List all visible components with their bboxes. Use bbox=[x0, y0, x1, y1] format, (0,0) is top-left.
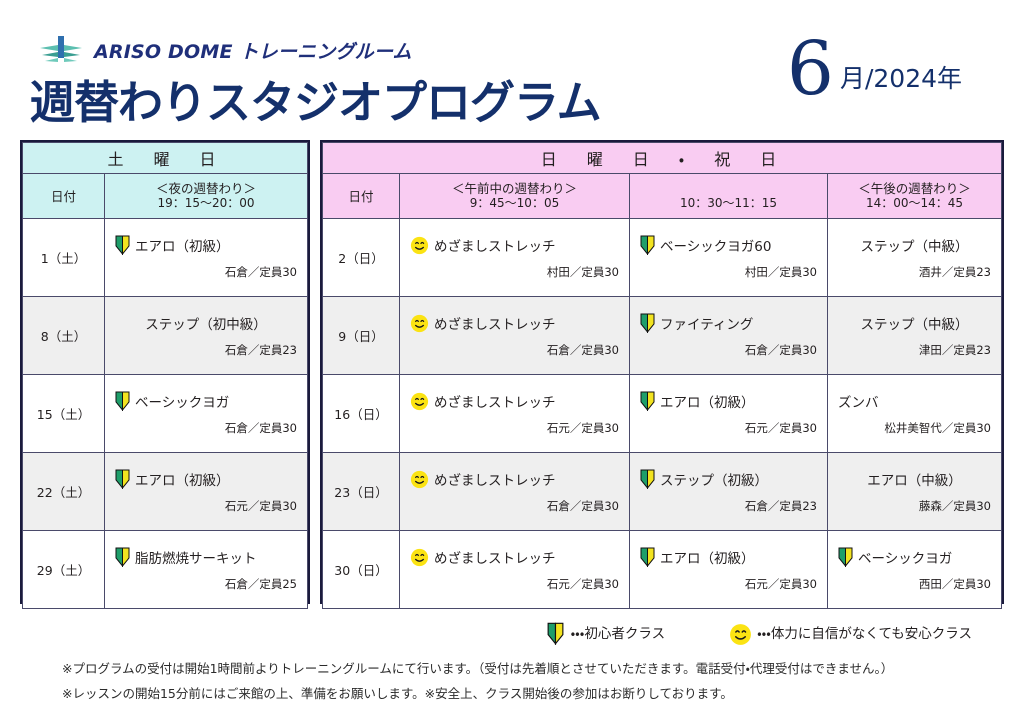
class-name: ステップ（初中級） bbox=[145, 313, 267, 333]
ariso-dome-logo-icon bbox=[38, 34, 84, 66]
class-title-line: ステップ（中級） bbox=[838, 235, 991, 255]
note-line-2: ※レッスンの開始15分前にはご来館の上、準備をお願いします。※安全上、クラス開始… bbox=[62, 681, 992, 706]
wakaba-beginner-icon bbox=[640, 547, 655, 567]
sunday-date-header: 日付 bbox=[323, 174, 400, 219]
class-name: エアロ（中級） bbox=[867, 469, 962, 489]
class-name: エアロ（初級） bbox=[660, 391, 755, 411]
class-instructor: 石倉／定員30 bbox=[115, 264, 297, 280]
wakaba-beginner-icon bbox=[547, 622, 562, 642]
legend-item-easy: ・・・体力に自信がなくても安心クラス bbox=[729, 622, 972, 642]
footer-notes: ※プログラムの受付は開始1時間前よりトレーニングルームにて行います。（受付は先着… bbox=[62, 656, 992, 706]
class-title-line: ベーシックヨガ bbox=[115, 391, 297, 411]
class-name: 脂肪燃焼サーキット bbox=[135, 547, 257, 567]
class-instructor: 石元／定員30 bbox=[410, 576, 619, 592]
class-name: めざましストレッチ bbox=[434, 235, 556, 255]
class-name: めざましストレッチ bbox=[434, 469, 556, 489]
saturday-class-2[interactable]: ベーシックヨガ 石倉／定員30 bbox=[105, 375, 308, 453]
sunday-class-2-slot2[interactable]: エアロ（初級） 石元／定員30 bbox=[630, 375, 828, 453]
sunday-date-2: 16（日） bbox=[323, 375, 400, 453]
morning-time-1: 9：45〜10：05 bbox=[400, 196, 629, 211]
class-instructor: 石倉／定員30 bbox=[115, 420, 297, 436]
sunday-class-3-slot1[interactable]: めざましストレッチ 石倉／定員30 bbox=[400, 453, 630, 531]
wakaba-beginner-icon bbox=[640, 469, 655, 489]
table-row: 1（土） エアロ（初級） 石倉／定員30 bbox=[23, 219, 308, 297]
month-year-label: 月/2024年 bbox=[834, 59, 962, 101]
sunday-date-3: 23（日） bbox=[323, 453, 400, 531]
afternoon-label: ＜午後の週替わり＞ bbox=[828, 181, 1001, 197]
month-number: 6 bbox=[787, 38, 834, 101]
class-instructor: 村田／定員30 bbox=[640, 264, 817, 280]
sunday-class-3-slot3[interactable]: エアロ（中級） 藤森／定員30 bbox=[828, 453, 1002, 531]
legend-item-beginner: ・・・初心者クラス bbox=[547, 622, 666, 642]
sunday-date-4: 30（日） bbox=[323, 531, 400, 609]
sunday-schedule-table: 日 曜 日 ・ 祝 日 日付 ＜午前中の週替わり＞ 9：45〜10：05 ＜午前… bbox=[320, 140, 1004, 604]
table-row: 9（日） めざましストレッチ 石倉／定員30 bbox=[323, 297, 1002, 375]
class-instructor: 石元／定員30 bbox=[410, 420, 619, 436]
sunday-class-1-slot2[interactable]: ファイティング 石倉／定員30 bbox=[630, 297, 828, 375]
class-instructor: 石倉／定員30 bbox=[410, 498, 619, 514]
morning-time-2: 10：30〜11：15 bbox=[630, 196, 827, 211]
saturday-class-1[interactable]: ステップ（初中級） 石倉／定員23 bbox=[105, 297, 308, 375]
smiley-easy-class-icon bbox=[410, 314, 429, 333]
sunday-class-4-slot3[interactable]: ベーシックヨガ 西田／定員30 bbox=[828, 531, 1002, 609]
saturday-day-title-row: 土 曜 日 bbox=[23, 143, 308, 174]
class-instructor: 藤森／定員30 bbox=[838, 498, 991, 514]
table-row: 23（日） めざましストレッチ 石倉／定員30 bbox=[323, 453, 1002, 531]
sunday-morning-slot2-header: ＜午前中の週替わり＞ 10：30〜11：15 bbox=[630, 174, 828, 219]
wakaba-beginner-icon bbox=[115, 547, 130, 567]
class-instructor: 石元／定員30 bbox=[115, 498, 297, 514]
sunday-class-0-slot1[interactable]: めざましストレッチ 村田／定員30 bbox=[400, 219, 630, 297]
class-title-line: エアロ（初級） bbox=[115, 469, 297, 489]
class-name: めざましストレッチ bbox=[434, 547, 556, 567]
wakaba-beginner-icon bbox=[838, 547, 853, 567]
saturday-class-3[interactable]: エアロ（初級） 石元／定員30 bbox=[105, 453, 308, 531]
saturday-slot-header: ＜夜の週替わり＞ 19：15〜20：00 bbox=[105, 174, 308, 219]
class-instructor: 酒井／定員23 bbox=[838, 264, 991, 280]
sunday-day-title-row: 日 曜 日 ・ 祝 日 bbox=[323, 143, 1002, 174]
table-row: 30（日） めざましストレッチ 石元／定員30 bbox=[323, 531, 1002, 609]
class-name: エアロ（初級） bbox=[135, 235, 230, 255]
class-instructor: 石元／定員30 bbox=[640, 420, 817, 436]
class-name: ベーシックヨガ bbox=[858, 547, 952, 567]
page-header: ARISO DOME トレーニングルーム 週替わりスタジオプログラム 6 月/2… bbox=[0, 0, 1024, 132]
saturday-class-0[interactable]: エアロ（初級） 石倉／定員30 bbox=[105, 219, 308, 297]
class-title-line: めざましストレッチ bbox=[410, 547, 619, 567]
class-title-line: エアロ（初級） bbox=[640, 391, 817, 411]
legend-label: ・・・体力に自信がなくても安心クラス bbox=[757, 622, 972, 642]
sunday-date-1: 9（日） bbox=[323, 297, 400, 375]
class-instructor: 石倉／定員23 bbox=[115, 342, 297, 358]
afternoon-time: 14：00〜14：45 bbox=[828, 196, 1001, 211]
sunday-header-row: 日付 ＜午前中の週替わり＞ 9：45〜10：05 ＜午前中の週替わり＞ 10：3… bbox=[323, 174, 1002, 219]
wakaba-beginner-icon bbox=[115, 391, 130, 411]
class-name: エアロ（初級） bbox=[660, 547, 755, 567]
sunday-class-2-slot3[interactable]: ズンバ 松井美智代／定員30 bbox=[828, 375, 1002, 453]
class-title-line: ステップ（初級） bbox=[640, 469, 817, 489]
class-instructor: 石元／定員30 bbox=[640, 576, 817, 592]
brand-lockup: ARISO DOME トレーニングルーム bbox=[38, 34, 412, 66]
class-name: めざましストレッチ bbox=[434, 391, 556, 411]
class-title-line: ズンバ bbox=[838, 391, 991, 411]
saturday-date-header: 日付 bbox=[23, 174, 105, 219]
class-title-line: めざましストレッチ bbox=[410, 235, 619, 255]
wakaba-beginner-icon bbox=[115, 235, 130, 255]
saturday-date-1: 8（土） bbox=[23, 297, 105, 375]
class-instructor: 石倉／定員30 bbox=[640, 342, 817, 358]
saturday-slot-label: ＜夜の週替わり＞ bbox=[105, 181, 307, 197]
saturday-class-4[interactable]: 脂肪燃焼サーキット 石倉／定員25 bbox=[105, 531, 308, 609]
class-name: ステップ（中級） bbox=[861, 235, 969, 255]
class-title-line: エアロ（初級） bbox=[640, 547, 817, 567]
class-instructor: 津田／定員23 bbox=[838, 342, 991, 358]
brand-name: ARISO DOME トレーニングルーム bbox=[94, 37, 412, 64]
note-line-1: ※プログラムの受付は開始1時間前よりトレーニングルームにて行います。（受付は先着… bbox=[62, 656, 992, 681]
table-row: 29（土） 脂肪燃焼サーキット 石倉／定員25 bbox=[23, 531, 308, 609]
sunday-day-title: 日 曜 日 ・ 祝 日 bbox=[323, 143, 1002, 174]
saturday-date-4: 29（土） bbox=[23, 531, 105, 609]
smiley-easy-class-icon bbox=[729, 623, 748, 642]
class-name: ステップ（初級） bbox=[660, 469, 768, 489]
sunday-morning-slot1-header: ＜午前中の週替わり＞ 9：45〜10：05 bbox=[400, 174, 630, 219]
month-indicator: 6 月/2024年 bbox=[787, 38, 962, 101]
class-title-line: ベーシックヨガ bbox=[838, 547, 991, 567]
class-title-line: エアロ（中級） bbox=[838, 469, 991, 489]
saturday-header-row: 日付 ＜夜の週替わり＞ 19：15〜20：00 bbox=[23, 174, 308, 219]
smiley-easy-class-icon bbox=[410, 392, 429, 411]
class-title-line: ベーシックヨガ60 bbox=[640, 235, 817, 255]
saturday-date-0: 1（土） bbox=[23, 219, 105, 297]
sunday-class-0-slot3[interactable]: ステップ（中級） 酒井／定員23 bbox=[828, 219, 1002, 297]
sunday-class-1-slot3[interactable]: ステップ（中級） 津田／定員23 bbox=[828, 297, 1002, 375]
table-row: 22（土） エアロ（初級） 石元／定員30 bbox=[23, 453, 308, 531]
smiley-easy-class-icon bbox=[410, 470, 429, 489]
table-row: 15（土） ベーシックヨガ 石倉／定員30 bbox=[23, 375, 308, 453]
wakaba-beginner-icon bbox=[640, 313, 655, 333]
sunday-class-3-slot2[interactable]: ステップ（初級） 石倉／定員23 bbox=[630, 453, 828, 531]
class-title-line: 脂肪燃焼サーキット bbox=[115, 547, 297, 567]
class-instructor: 石倉／定員30 bbox=[410, 342, 619, 358]
wakaba-beginner-icon bbox=[640, 235, 655, 255]
class-title-line: めざましストレッチ bbox=[410, 313, 619, 333]
saturday-schedule-table: 土 曜 日 日付 ＜夜の週替わり＞ 19：15〜20：00 1（土） bbox=[20, 140, 310, 604]
legend: ・・・初心者クラス ・・・体力に自信がなくても安心クラス bbox=[0, 610, 1024, 654]
table-row: 2（日） めざましストレッチ 村田／定員30 bbox=[323, 219, 1002, 297]
program-flyer: ARISO DOME トレーニングルーム 週替わりスタジオプログラム 6 月/2… bbox=[0, 0, 1024, 724]
page-title: 週替わりスタジオプログラム bbox=[30, 66, 601, 131]
class-instructor: 村田／定員30 bbox=[410, 264, 619, 280]
class-name: ズンバ bbox=[838, 391, 879, 411]
saturday-date-3: 22（土） bbox=[23, 453, 105, 531]
class-title-line: ステップ（初中級） bbox=[115, 313, 297, 333]
saturday-slot-time: 19：15〜20：00 bbox=[105, 196, 307, 211]
class-title-line: めざましストレッチ bbox=[410, 469, 619, 489]
class-instructor: 石倉／定員25 bbox=[115, 576, 297, 592]
morning-label: ＜午前中の週替わり＞ bbox=[400, 181, 629, 197]
sunday-class-4-slot2[interactable]: エアロ（初級） 石元／定員30 bbox=[630, 531, 828, 609]
sunday-class-1-slot1[interactable]: めざましストレッチ 石倉／定員30 bbox=[400, 297, 630, 375]
table-row: 8（土） ステップ（初中級） 石倉／定員23 bbox=[23, 297, 308, 375]
class-instructor: 石倉／定員23 bbox=[640, 498, 817, 514]
table-row: 16（日） めざましストレッチ 石元／定員30 bbox=[323, 375, 1002, 453]
sunday-class-2-slot1[interactable]: めざましストレッチ 石元／定員30 bbox=[400, 375, 630, 453]
class-name: ベーシックヨガ60 bbox=[660, 235, 771, 255]
smiley-easy-class-icon bbox=[410, 548, 429, 567]
wakaba-beginner-icon bbox=[115, 469, 130, 489]
class-instructor: 西田／定員30 bbox=[838, 576, 991, 592]
saturday-day-title: 土 曜 日 bbox=[23, 143, 308, 174]
class-title-line: めざましストレッチ bbox=[410, 391, 619, 411]
sunday-class-0-slot2[interactable]: ベーシックヨガ60 村田／定員30 bbox=[630, 219, 828, 297]
legend-label: ・・・初心者クラス bbox=[571, 622, 666, 642]
class-name: エアロ（初級） bbox=[135, 469, 230, 489]
class-name: ファイティング bbox=[660, 313, 753, 333]
class-title-line: ファイティング bbox=[640, 313, 817, 333]
wakaba-beginner-icon bbox=[640, 391, 655, 411]
saturday-date-2: 15（土） bbox=[23, 375, 105, 453]
class-title-line: ステップ（中級） bbox=[838, 313, 991, 333]
sunday-class-4-slot1[interactable]: めざましストレッチ 石元／定員30 bbox=[400, 531, 630, 609]
class-title-line: エアロ（初級） bbox=[115, 235, 297, 255]
sunday-date-0: 2（日） bbox=[323, 219, 400, 297]
sunday-afternoon-slot-header: ＜午後の週替わり＞ 14：00〜14：45 bbox=[828, 174, 1002, 219]
smiley-easy-class-icon bbox=[410, 236, 429, 255]
class-name: めざましストレッチ bbox=[434, 313, 556, 333]
class-instructor: 松井美智代／定員30 bbox=[838, 420, 991, 436]
class-name: ステップ（中級） bbox=[861, 313, 969, 333]
class-name: ベーシックヨガ bbox=[135, 391, 229, 411]
